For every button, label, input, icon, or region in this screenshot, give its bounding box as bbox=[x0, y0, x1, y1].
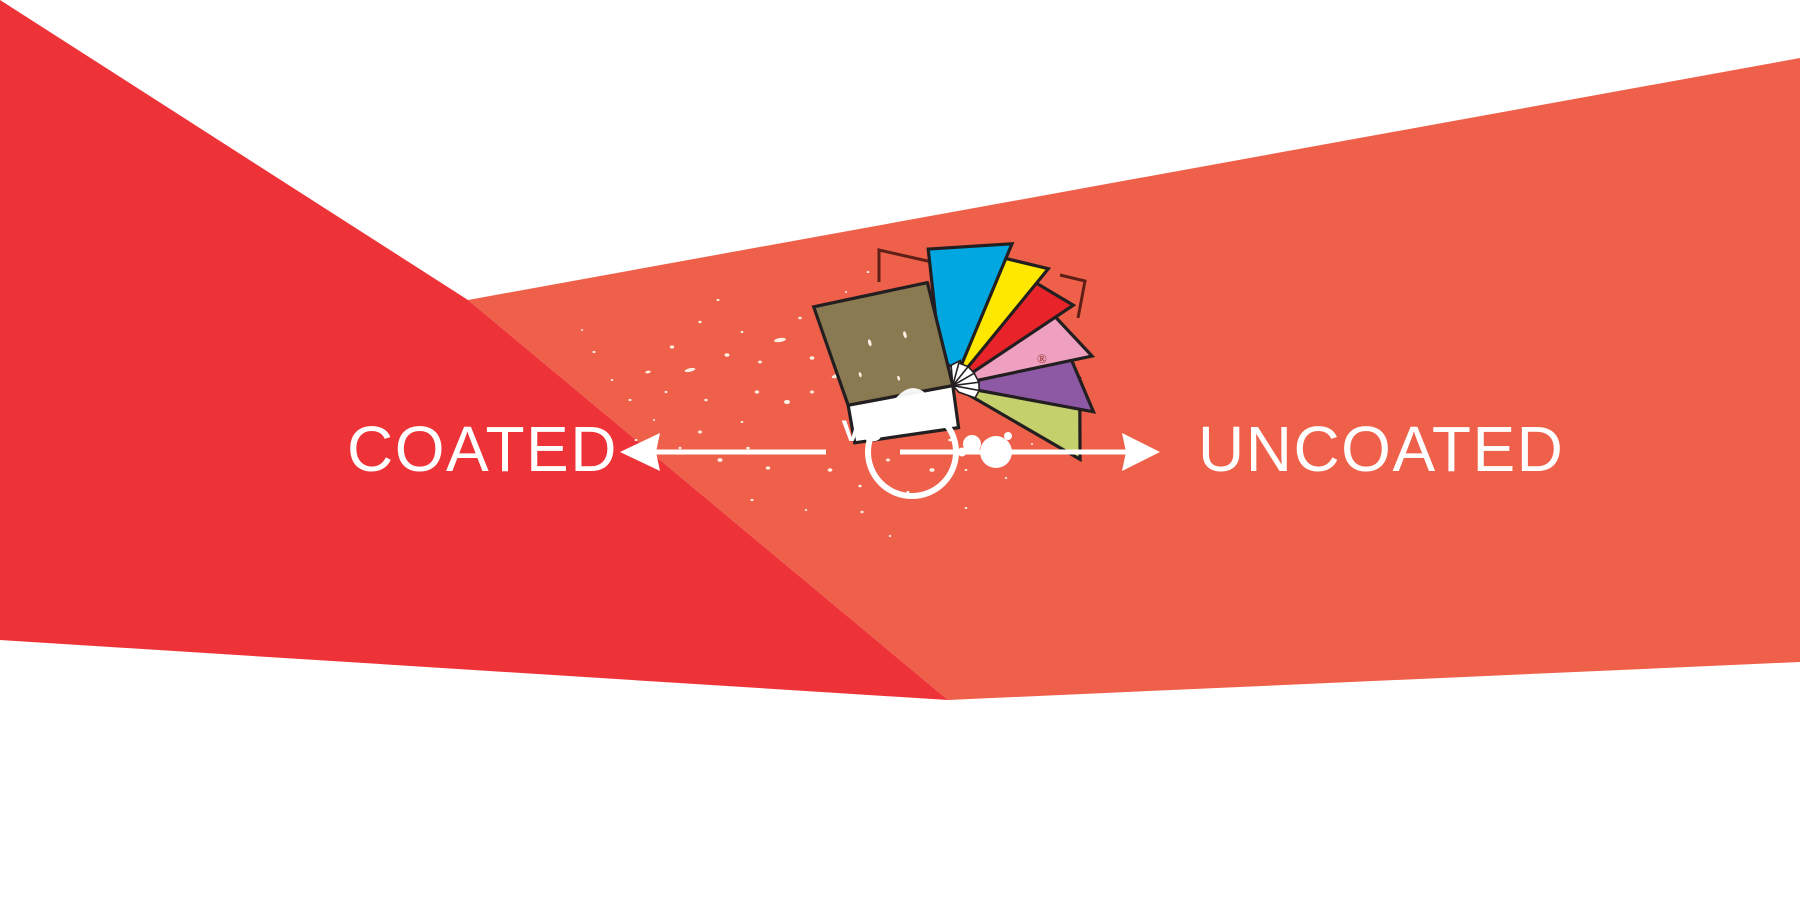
coated-label: COATED bbox=[347, 417, 618, 481]
banner-graphic: ® COATED UNCOATED VS bbox=[0, 0, 1800, 900]
crop-mark-top-left bbox=[879, 250, 932, 282]
registered-mark: ® bbox=[1037, 351, 1047, 366]
vs-badge-label: VS bbox=[841, 415, 882, 449]
color-fan-deck-icon bbox=[807, 214, 1118, 519]
uncoated-label: UNCOATED bbox=[1198, 417, 1564, 481]
arrow-left-icon bbox=[620, 433, 826, 471]
ink-blob-icon bbox=[958, 432, 1013, 468]
arrow-right-icon bbox=[900, 433, 1160, 471]
